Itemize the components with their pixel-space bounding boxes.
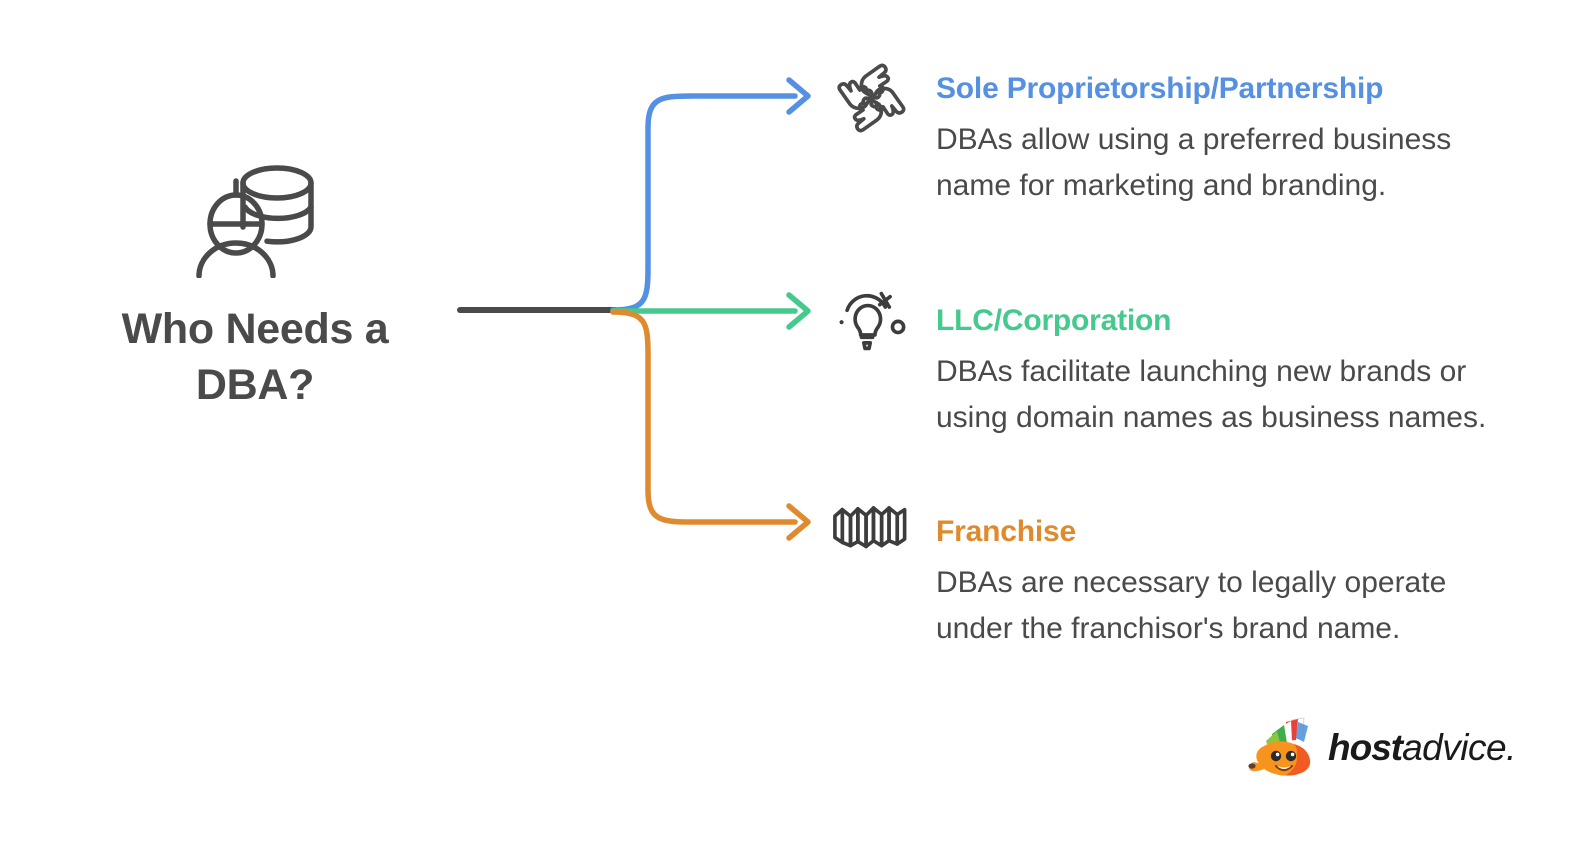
branch-llc-corporation: LLC/Corporation DBAs facilitate launchin… [828, 282, 1528, 442]
branch-heading: Sole Proprietorship/Partnership [936, 72, 1528, 107]
connector-branch-3 [613, 312, 795, 522]
branch-body: DBAs facilitate launching new brands or … [936, 349, 1528, 442]
arrow-right-icon-3 [789, 506, 808, 538]
logo-word-advice: advice. [1402, 727, 1516, 768]
branch-text: LLC/Corporation DBAs facilitate launchin… [936, 304, 1528, 442]
branch-franchise: Franchise DBAs are necessary to legally … [828, 497, 1528, 653]
infographic-canvas: Who Needs a DBA? [0, 0, 1596, 848]
teamwork-hands-icon [831, 58, 911, 138]
hostadvice-logo: hostadvice. [1246, 716, 1516, 778]
hostadvice-wordmark: hostadvice. [1328, 729, 1516, 766]
logo-word-host: host [1328, 727, 1402, 768]
lightbulb-idea-icon-wrap [828, 284, 914, 354]
branch-body: DBAs are necessary to legally operate un… [936, 560, 1528, 653]
person-database-icon [189, 160, 321, 278]
teamwork-hands-icon-wrap [828, 58, 914, 138]
branch-text: Sole Proprietorship/Partnership DBAs all… [936, 72, 1528, 210]
franchise-buildings-icon [830, 503, 912, 549]
page-title: Who Needs a DBA? [60, 302, 450, 414]
branch-heading: Franchise [936, 515, 1528, 550]
connector-branch-1 [613, 96, 795, 310]
arrow-right-icon-2 [789, 295, 808, 327]
branch-heading: LLC/Corporation [936, 304, 1528, 339]
page-title-line1: Who Needs a [60, 302, 450, 358]
branch-sole-proprietorship-partnership: Sole Proprietorship/Partnership DBAs all… [828, 62, 1528, 210]
branch-body: DBAs allow using a preferred business na… [936, 117, 1528, 210]
franchise-buildings-icon-wrap [828, 503, 914, 549]
topic-block: Who Needs a DBA? [60, 160, 450, 414]
lightbulb-idea-icon [831, 284, 911, 354]
arrow-right-icon-1 [789, 80, 808, 112]
hostadvice-fox-icon [1246, 716, 1318, 778]
branch-text: Franchise DBAs are necessary to legally … [936, 515, 1528, 653]
page-title-line2: DBA? [60, 358, 450, 414]
